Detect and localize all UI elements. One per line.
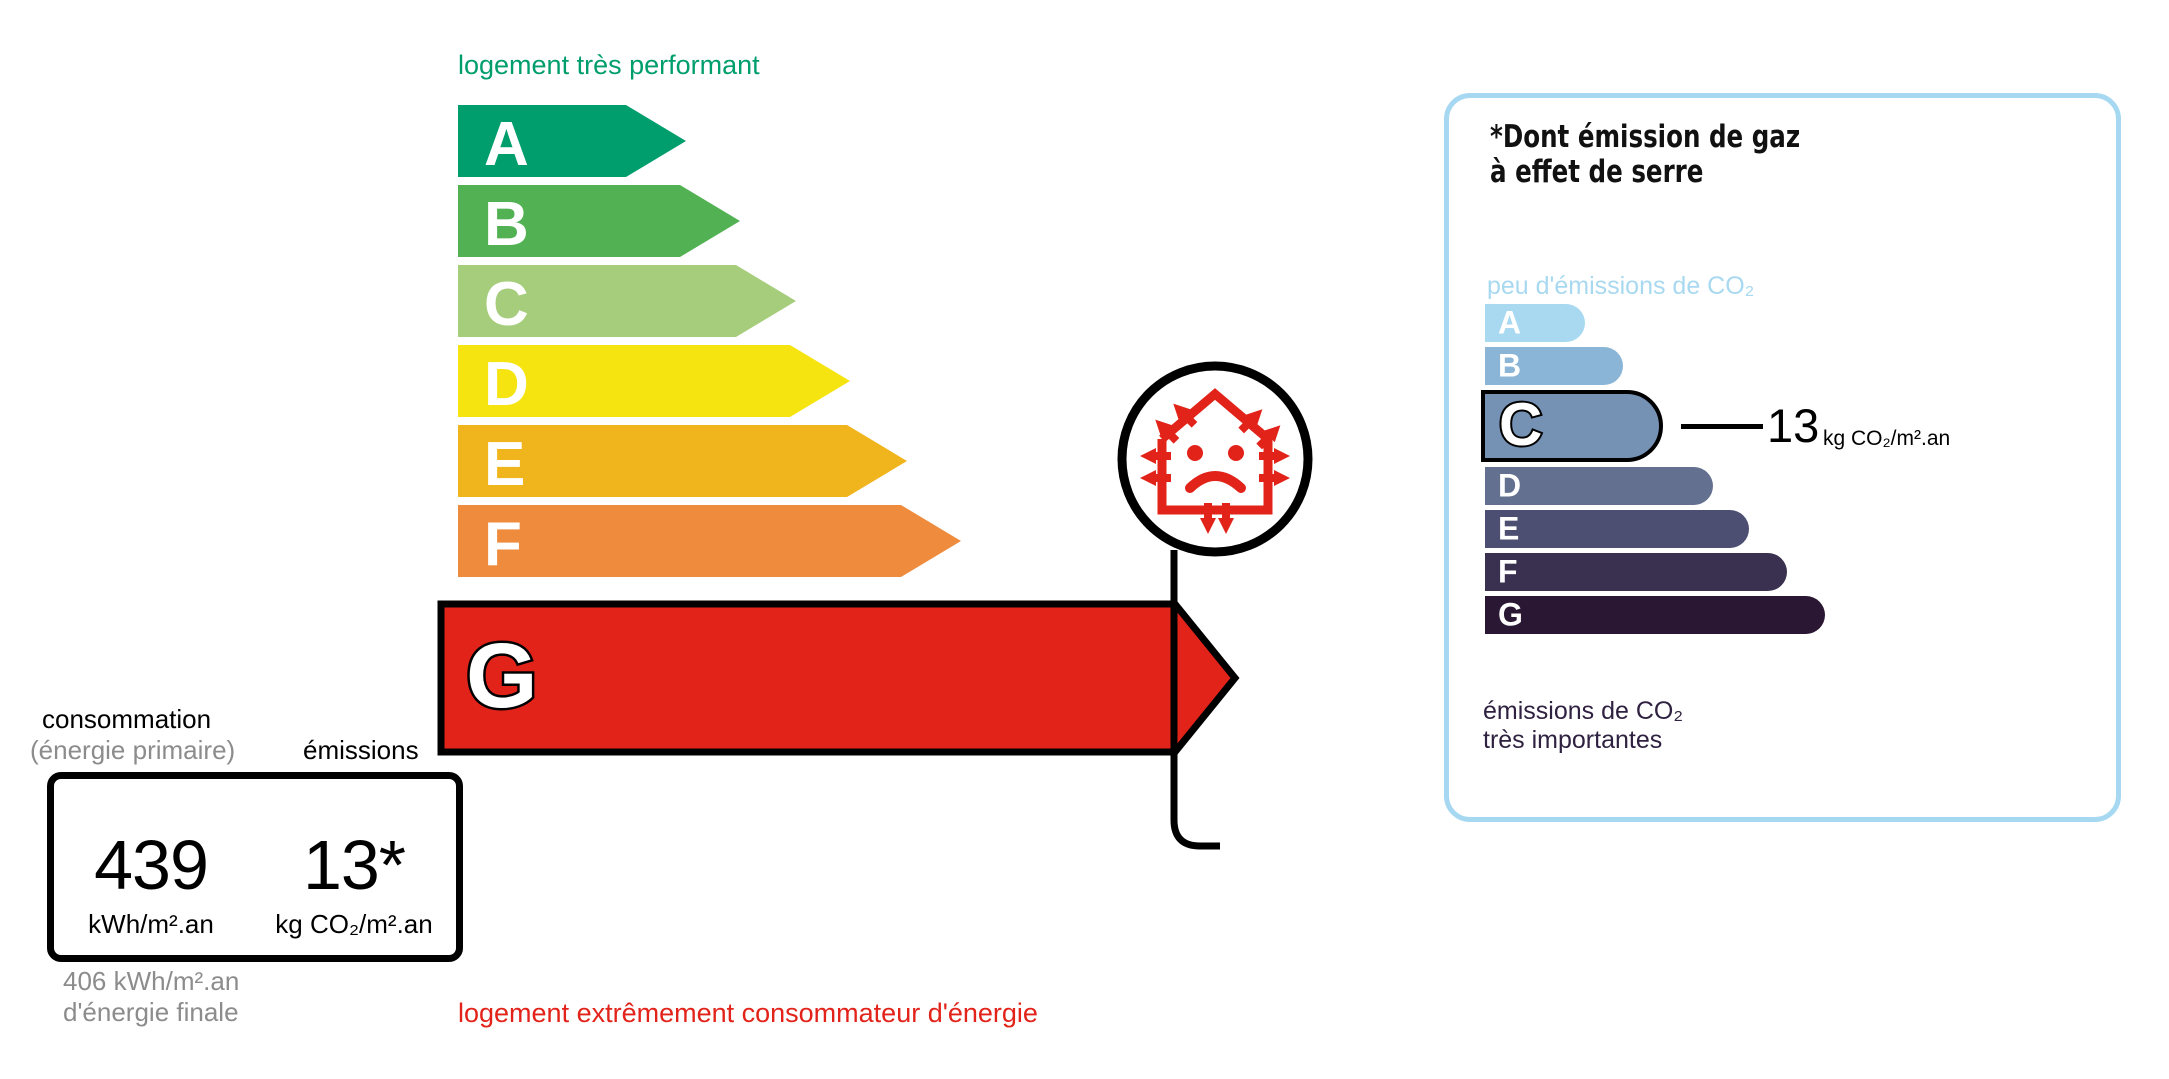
co2-panel-title: *Dont émission de gaz à effet de serre — [1490, 120, 1800, 191]
energy-band-c: C — [458, 265, 806, 347]
energy-band-b: B — [458, 185, 750, 267]
co2-bar-g: G — [1485, 596, 1825, 634]
energy-band-e: E — [458, 425, 917, 507]
co2-value: 13 — [1767, 402, 1819, 449]
energy-unit: kWh/m².an — [60, 911, 242, 937]
energy-band-d: D — [458, 345, 860, 427]
co2-bar-b: B — [1485, 347, 1623, 385]
co2-legend-bottom-line1: émissions de CO₂ — [1483, 697, 1683, 726]
co2-bar-d: D — [1485, 467, 1713, 505]
sad-house-heat-loss-icon — [1116, 360, 1314, 558]
energy-band-letter-c: C — [484, 274, 529, 336]
badge-connector-line — [1150, 550, 1290, 870]
co2-bar-letter-g: G — [1498, 598, 1523, 630]
co2-bar-letter-f: F — [1498, 555, 1518, 587]
header-consommation: consommation — [42, 704, 211, 735]
energy-band-a: A — [458, 105, 696, 187]
co2-bar-letter-c: C — [1499, 395, 1542, 455]
co2-value-unit: kg CO₂/m².an — [1823, 428, 1950, 449]
energy-band-letter-b: B — [484, 194, 529, 256]
energy-band-letter-e: E — [484, 434, 525, 496]
co2-bar-letter-e: E — [1498, 512, 1519, 544]
final-energy-line1: 406 kWh/m².an — [63, 966, 239, 997]
co2-bar-letter-d: D — [1498, 469, 1521, 501]
co2-title-line2: à effet de serre — [1490, 155, 1800, 190]
co2-bar-letter-b: B — [1498, 349, 1521, 381]
co2-leader-line — [1681, 424, 1763, 429]
final-energy-note: 406 kWh/m².an d'énergie finale — [63, 966, 239, 1027]
energy-band-letter-d: D — [484, 354, 529, 416]
co2-bar-chart: ABC13kg CO₂/m².anDEFG — [1485, 304, 2105, 694]
co2-legend-top: peu d'émissions de CO₂ — [1487, 272, 1754, 301]
co2-bar-letter-a: A — [1498, 306, 1521, 338]
energy-band-letter-a: A — [484, 114, 529, 176]
co2-legend-bottom: émissions de CO₂ très importantes — [1483, 697, 1683, 754]
energy-value: 439 — [60, 830, 242, 900]
co2-title-line1: *Dont émission de gaz — [1490, 120, 1800, 155]
ladder-bottom-caption: logement extrêmement consommateur d'éner… — [458, 998, 1038, 1029]
co2-bar-f: F — [1485, 553, 1787, 591]
energy-band-f: F — [458, 505, 971, 587]
co2-bar-c: C — [1481, 390, 1663, 462]
final-energy-line2: d'énergie finale — [63, 997, 239, 1028]
co2-legend-bottom-line2: très importantes — [1483, 726, 1683, 755]
energy-value-cell: 439 kWh/m².an — [60, 830, 242, 937]
energy-band-letter-f: F — [484, 514, 522, 576]
header-emissions: émissions — [303, 735, 419, 766]
emission-value-cell: 13* kg CO₂/m².an — [256, 830, 452, 937]
energy-band-g: G — [436, 599, 1240, 757]
emission-value: 13* — [256, 830, 452, 900]
energy-band-letter-g: G — [466, 630, 538, 722]
co2-bar-e: E — [1485, 510, 1749, 548]
emission-unit: kg CO₂/m².an — [256, 911, 452, 937]
co2-bar-a: A — [1485, 304, 1585, 342]
header-energie-primaire: (énergie primaire) — [30, 735, 235, 766]
